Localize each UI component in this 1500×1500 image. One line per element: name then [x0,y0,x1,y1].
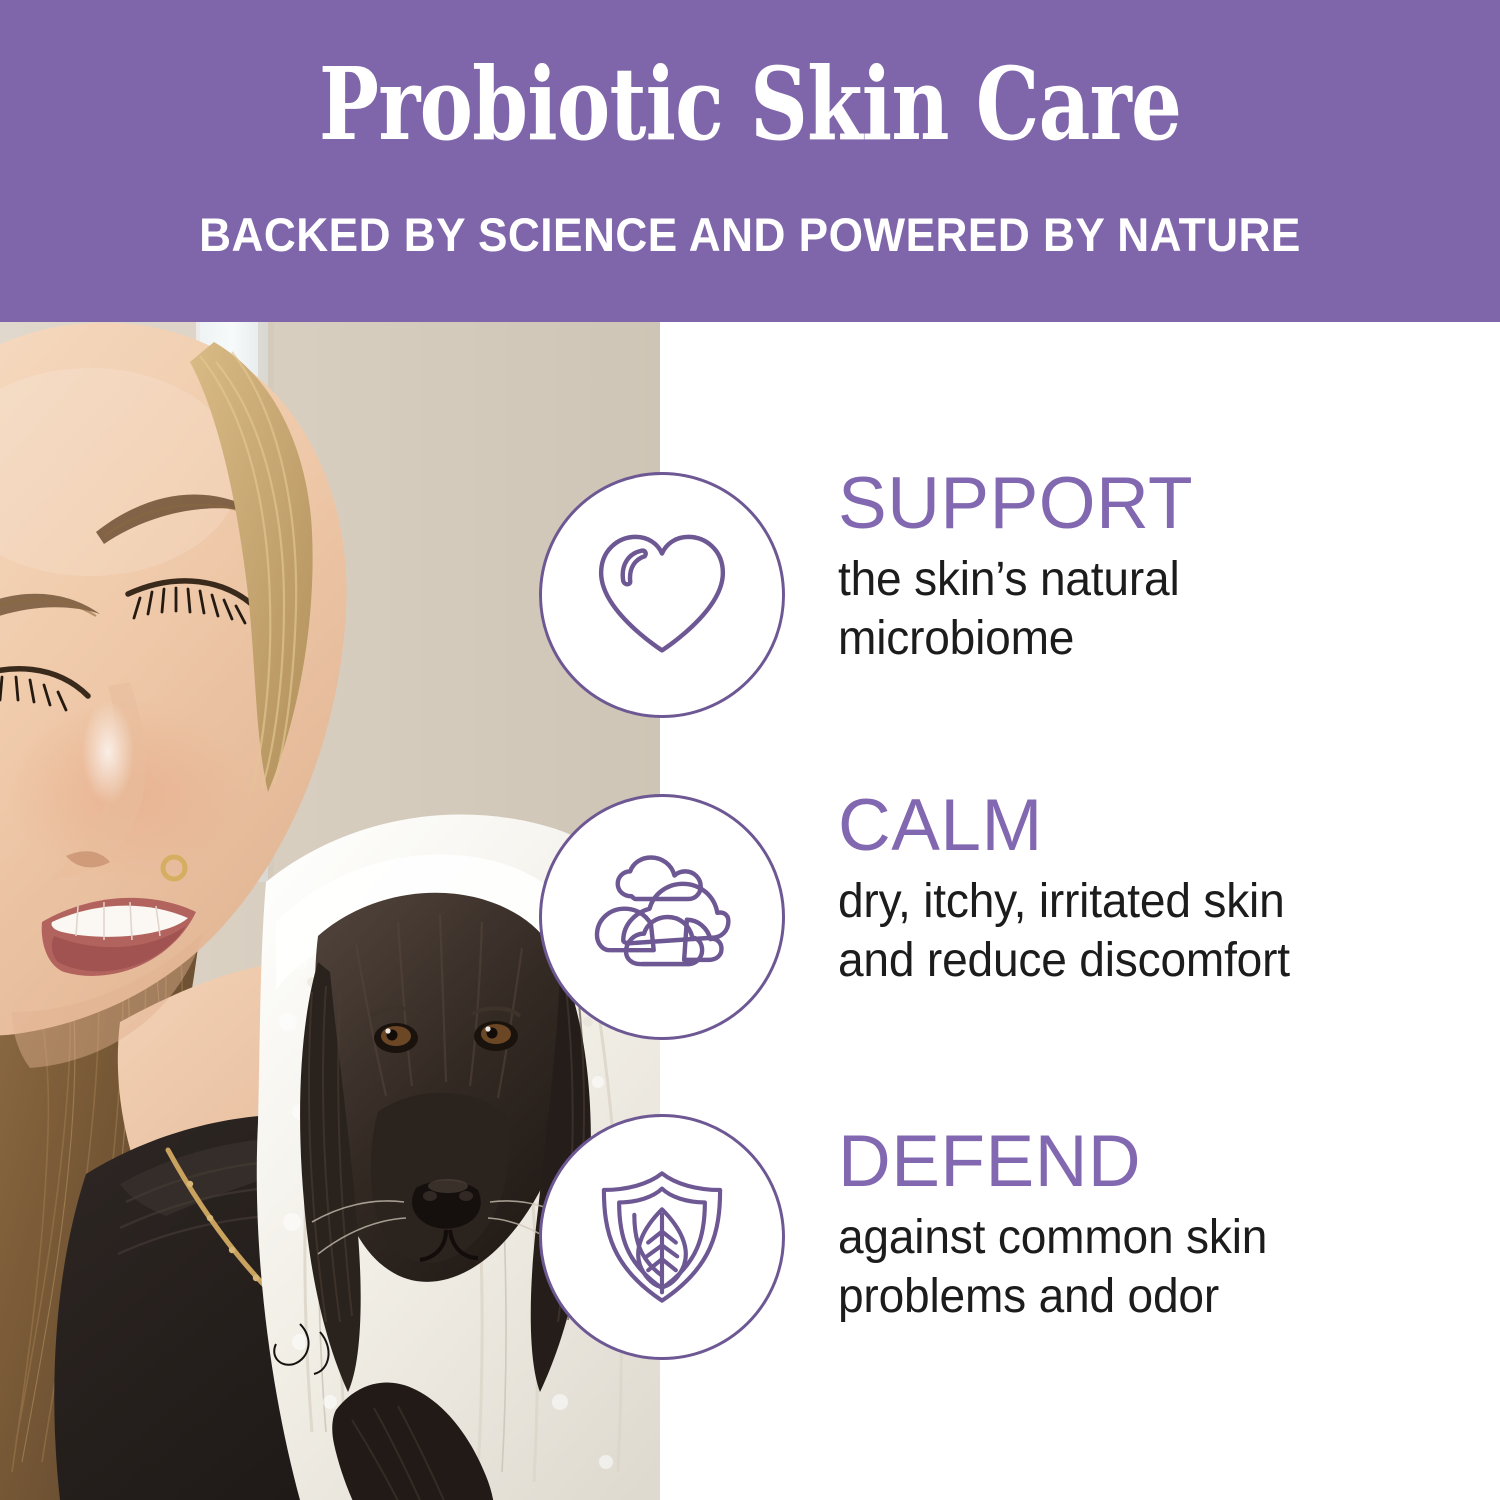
benefit-body: the skin’s natural microbiome [838,550,1452,668]
infographic-page: Probiotic Skin Care BACKED BY SCIENCE AN… [0,0,1500,1500]
benefit-body-line: microbiome [838,609,1452,668]
header-band: Probiotic Skin Care BACKED BY SCIENCE AN… [0,0,1500,322]
page-title: Probiotic Skin Care [150,48,1350,160]
heart-icon [539,472,785,718]
benefit-heading: CALM [838,786,1478,866]
benefit-text-support: SUPPORT the skin’s natural microbiome [838,464,1478,668]
benefit-body: against common skin problems and odor [838,1208,1452,1326]
benefit-body: dry, itchy, irritated skin and reduce di… [838,872,1452,990]
benefit-text-calm: CALM dry, itchy, irritated skin and redu… [838,786,1478,990]
benefit-body-line: and reduce discomfort [838,931,1452,990]
bubbles-icon [539,794,785,1040]
benefit-heading: DEFEND [838,1122,1478,1202]
benefit-body-line: dry, itchy, irritated skin [838,872,1452,931]
page-subtitle: BACKED BY SCIENCE AND POWERED BY NATURE [45,206,1455,264]
benefit-body-line: the skin’s natural [838,550,1452,609]
benefit-body-line: problems and odor [838,1267,1452,1326]
benefit-text-defend: DEFEND against common skin problems and … [838,1122,1478,1326]
benefit-heading: SUPPORT [838,464,1478,544]
shield-leaf-icon [539,1114,785,1360]
benefit-body-line: against common skin [838,1208,1452,1267]
